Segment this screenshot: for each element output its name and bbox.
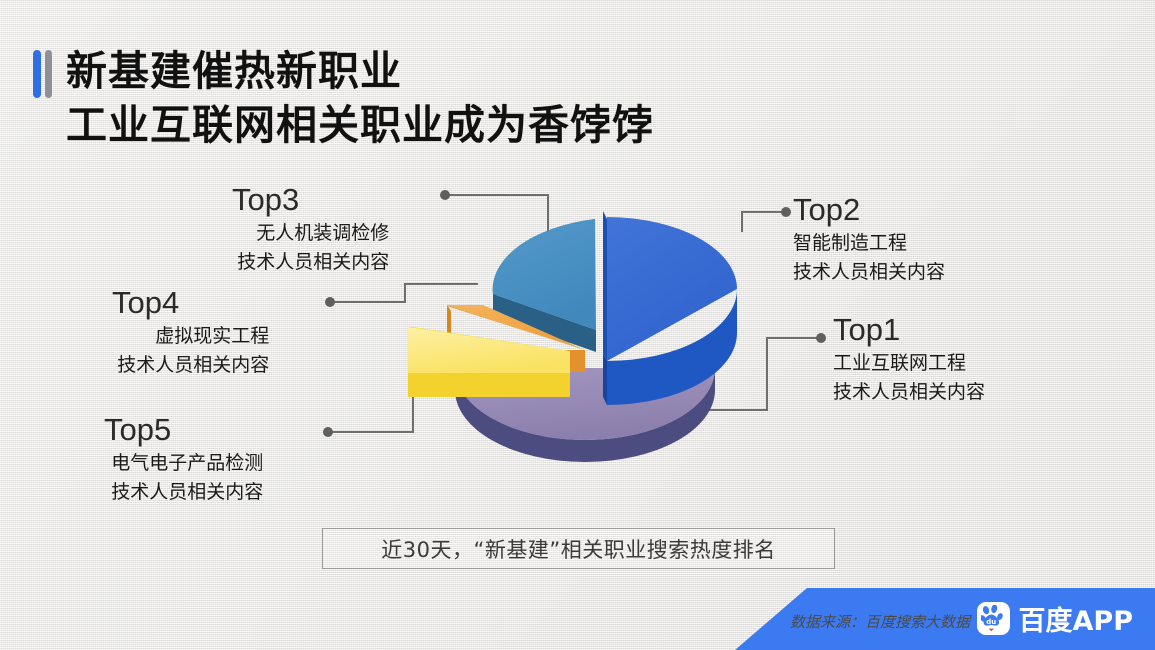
- accent-bar-blue-icon: [33, 50, 41, 98]
- pie-slice-top5-side-bottom: [408, 373, 570, 397]
- title-block: 新基建催热新职业 工业互联网相关职业成为香饽饽: [33, 44, 654, 152]
- footer: 数据来源：百度搜索大数据 du 百度APP: [0, 588, 1155, 650]
- pie-slice-top2-side-inner: [603, 353, 607, 405]
- title-line-1: 新基建催热新职业: [66, 44, 654, 98]
- leader-dot-top5: [323, 427, 333, 437]
- callout-top5-line2: 技术人员相关内容: [104, 479, 263, 506]
- callout-top4-line2: 技术人员相关内容: [112, 352, 269, 379]
- title-line-2: 工业互联网相关职业成为香饽饽: [66, 98, 654, 152]
- callout-top1-rank: Top1: [833, 312, 985, 348]
- pie-slice-top3: [493, 219, 596, 352]
- chart-caption-text: 近30天，“新基建”相关职业搜索热度排名: [381, 534, 775, 564]
- callout-top3-line2: 技术人员相关内容: [232, 249, 389, 276]
- callout-top5-rank: Top5: [104, 412, 263, 448]
- pie-slice-top2-side-left: [603, 211, 607, 361]
- callout-top2-rank: Top2: [793, 192, 945, 228]
- infographic-root: 新基建催热新职业 工业互联网相关职业成为香饽饽: [0, 0, 1155, 650]
- callout-top1-line2: 技术人员相关内容: [833, 379, 985, 406]
- callout-top1-line1: 工业互联网工程: [833, 350, 985, 377]
- pie-chart: [395, 175, 815, 505]
- footer-source-text: 数据来源：百度搜索大数据: [790, 611, 970, 632]
- callout-top4-line1: 虚拟现实工程: [112, 323, 269, 350]
- callout-top2-line2: 技术人员相关内容: [793, 259, 945, 286]
- footer-brand[interactable]: du 百度APP: [977, 599, 1133, 638]
- leader-dot-top1: [816, 333, 826, 343]
- baidu-paw-icon: du: [977, 602, 1010, 635]
- callout-top2-line1: 智能制造工程: [793, 230, 945, 257]
- chart-caption-box: 近30天，“新基建”相关职业搜索热度排名: [322, 528, 835, 569]
- leader-dot-top4: [325, 297, 335, 307]
- pie-slice-top2: [603, 211, 737, 405]
- baidu-app-label: 百度APP: [1019, 599, 1133, 638]
- svg-text:du: du: [986, 618, 996, 626]
- callout-top3-line1: 无人机装调检修: [232, 220, 389, 247]
- callout-top5-line1: 电气电子产品检测: [104, 450, 263, 477]
- callout-top4: Top4 虚拟现实工程 技术人员相关内容: [112, 285, 269, 379]
- page-title: 新基建催热新职业 工业互联网相关职业成为香饽饽: [66, 44, 654, 152]
- callout-top3: Top3 无人机装调检修 技术人员相关内容: [232, 182, 389, 276]
- callout-top4-rank: Top4: [112, 285, 269, 321]
- callout-top5: Top5 电气电子产品检测 技术人员相关内容: [104, 412, 263, 506]
- pie-slice-top5: [408, 327, 570, 397]
- title-accent-bars: [33, 50, 52, 98]
- accent-bar-gray-icon: [45, 50, 52, 98]
- callout-top3-rank: Top3: [232, 182, 389, 218]
- callout-top1: Top1 工业互联网工程 技术人员相关内容: [833, 312, 985, 406]
- callout-top2: Top2 智能制造工程 技术人员相关内容: [793, 192, 945, 286]
